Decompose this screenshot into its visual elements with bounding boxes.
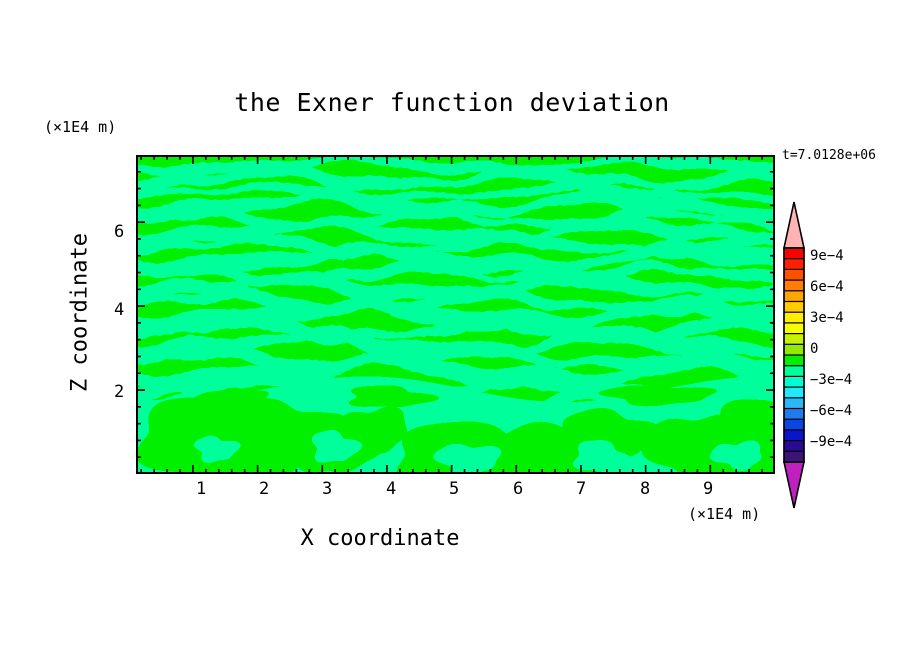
colorbar-tick-label: 6e−4 — [810, 279, 844, 295]
colorbar-tick-label: 0 — [810, 341, 818, 357]
colorbar-tick-label: −9e−4 — [810, 434, 852, 450]
figure-canvas: the Exner function deviation (×1E4 m) (×… — [0, 0, 904, 654]
colorbar-tick-label: 9e−4 — [810, 248, 844, 264]
colorbar-tick-label: −6e−4 — [810, 403, 852, 419]
axis-ticks — [0, 0, 904, 654]
colorbar[interactable]: 9e−4 6e−4 3e−4 0 −3e−4 −6e−4 −9e−4 — [782, 200, 818, 514]
colorbar-tick-label: −3e−4 — [810, 372, 852, 388]
colorbar-tick-label: 3e−4 — [810, 310, 844, 326]
